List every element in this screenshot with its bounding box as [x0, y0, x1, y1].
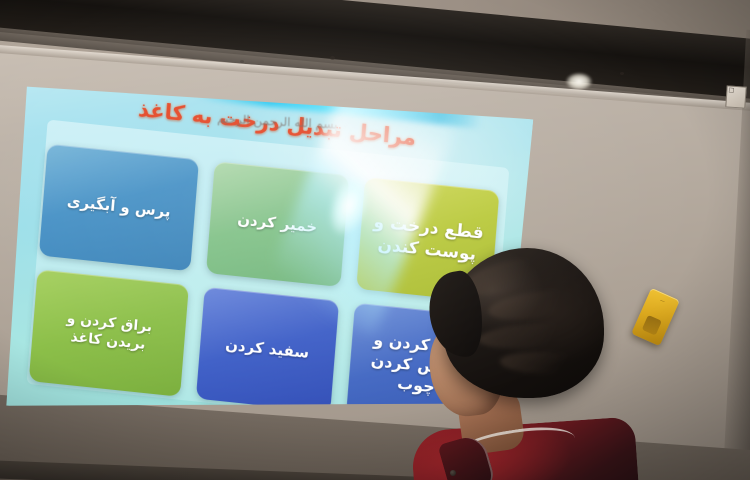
student-figure	[408, 242, 638, 480]
shirt-button	[450, 470, 456, 476]
process-box-pulping: خمیر کردن	[206, 161, 350, 287]
hair-wave	[500, 350, 589, 375]
process-box-gloss-cut: براق کردن و بریدن کاغذ	[29, 269, 189, 396]
eraser-slot	[642, 315, 662, 336]
process-box-press-dewater: پرس و آبگیری	[39, 143, 199, 270]
wall-sticker-label: □	[725, 85, 746, 108]
hair-wave	[477, 320, 582, 351]
process-box-bleaching: سفید کردن	[195, 287, 339, 413]
wall-speck	[620, 72, 624, 75]
classroom-photo-scene: □ مراحل تبدیل درخت به کاغذ بسم الله الرح…	[0, 0, 750, 480]
wall-light-glare	[566, 73, 592, 90]
process-box-label: براق کردن و بریدن کاغذ	[65, 310, 153, 355]
process-box-label: پرس و آبگیری	[66, 192, 171, 222]
process-box-label: خمیر کردن	[237, 210, 318, 238]
process-box-label: سفید کردن	[225, 336, 310, 364]
wall-speck	[330, 56, 335, 60]
wall-speck	[240, 60, 244, 63]
eraser-label: —	[650, 294, 675, 309]
